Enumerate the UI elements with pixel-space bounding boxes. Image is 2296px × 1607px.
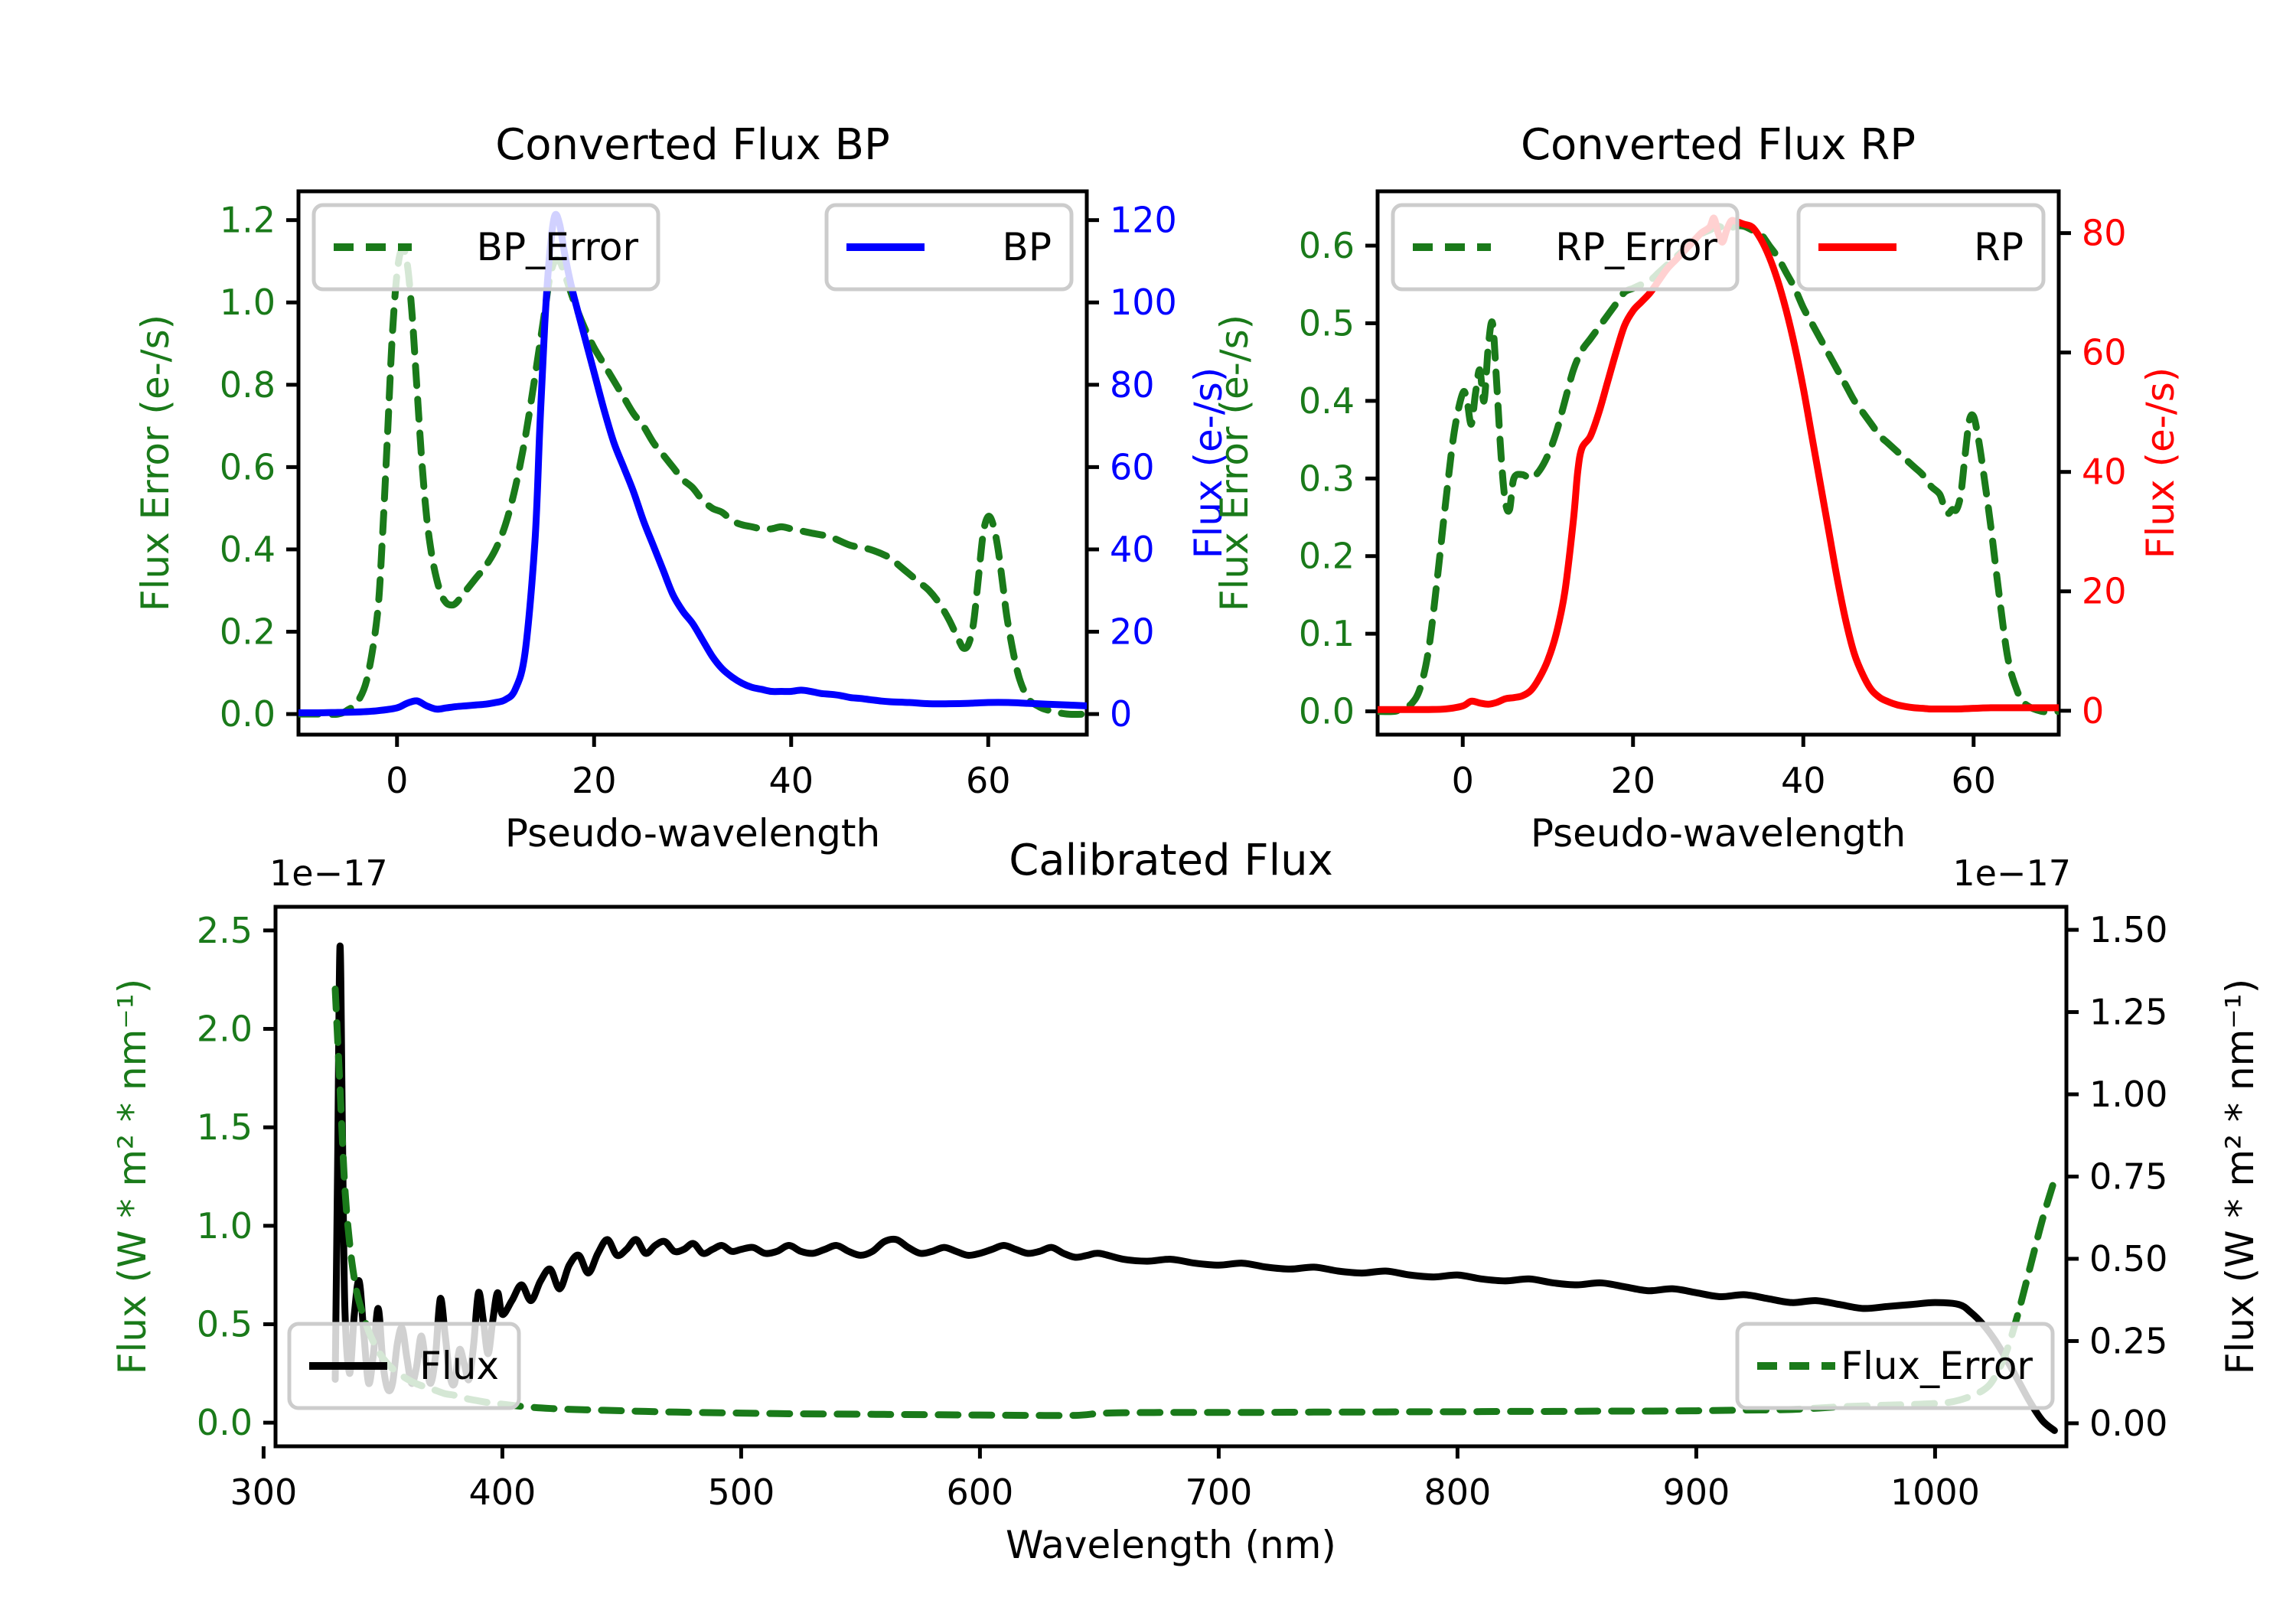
legend-bp_error[interactable]: BP_Error [314,205,658,289]
y-tick-label-right: 20 [1110,611,1155,653]
y-axis-label-left: Flux Error (e-/s) [1212,315,1257,611]
legend-flux_error[interactable]: Flux_Error [1737,1324,2053,1408]
series-line-bp_error [298,249,1087,715]
panel-bp: 0204060Pseudo-wavelength0.00.20.40.60.81… [133,120,1231,856]
x-tick-label: 20 [572,760,617,801]
matplotlib-figure: 0204060Pseudo-wavelength0.00.20.40.60.81… [0,0,2296,1607]
y-tick-label-right: 120 [1110,200,1177,241]
x-tick-label: 1000 [1890,1472,1980,1513]
legend-label: BP_Error [477,225,639,269]
panel-title: Calibrated Flux [1009,836,1333,885]
offset-text-left: 1e−17 [269,852,388,894]
y-tick-label-left: 0.0 [1299,691,1355,732]
y-tick-label-right: 40 [1110,529,1155,570]
series-line-rp_error [1378,226,2059,712]
y-tick-label-right: 0.00 [2089,1403,2167,1444]
y-tick-label-left: 0.2 [220,611,276,653]
y-tick-label-left: 0.5 [1299,302,1355,344]
legend-label: BP [1003,225,1052,269]
data-layer [1378,218,2059,712]
panel-title: Converted Flux BP [495,120,890,170]
y-tick-label-right: 0.75 [2089,1156,2167,1198]
legend-flux[interactable]: Flux [289,1324,519,1408]
y-tick-label-right: 60 [2082,332,2127,373]
x-tick-label: 0 [1452,760,1474,801]
y-tick-label-right: 0 [2082,690,2104,732]
panel-cal: 3004005006007008009001000Wavelength (nm)… [110,836,2262,1567]
y-tick-label-right: 80 [2082,213,2127,254]
x-tick-label: 400 [468,1472,536,1513]
legend-label: Flux [419,1344,499,1388]
y-tick-label-right: 100 [1110,282,1177,323]
y-tick-label-left: 2.0 [197,1009,253,1050]
series-line-rp [1378,218,2059,709]
x-tick-label: 20 [1610,760,1655,801]
y-tick-label-left: 0.0 [220,693,276,735]
x-tick-label: 500 [707,1472,775,1513]
legend-label: RP_Error [1555,225,1717,269]
y-tick-label-left: 1.5 [197,1107,253,1148]
x-tick-label: 40 [1781,760,1826,801]
y-tick-label-left: 0.8 [220,364,276,406]
y-tick-label-left: 2.5 [197,910,253,951]
legend-rp[interactable]: RP [1799,205,2043,289]
x-tick-label: 60 [966,760,1011,801]
x-axis-label: Wavelength (nm) [1006,1523,1336,1567]
x-tick-label: 600 [946,1472,1013,1513]
panel-rp: 0204060Pseudo-wavelength0.00.10.20.30.40… [1212,120,2183,856]
y-tick-label-right: 0.50 [2089,1238,2167,1279]
y-tick-label-right: 20 [2082,571,2127,612]
y-tick-label-right: 0 [1110,693,1132,735]
y-axis-label-right: Flux (e-/s) [2138,367,2183,559]
y-axis-label-right: Flux (W * m² * nm⁻¹) [2218,979,2262,1374]
y-tick-label-right: 1.50 [2089,909,2167,950]
legend-bp[interactable]: BP [827,205,1071,289]
y-tick-label-left: 0.4 [1299,380,1355,422]
y-axis-label-left: Flux Error (e-/s) [133,315,178,611]
x-tick-label: 900 [1662,1472,1730,1513]
y-tick-label-left: 0.5 [197,1303,253,1345]
x-tick-label: 40 [768,760,814,801]
y-tick-label-right: 1.25 [2089,992,2167,1033]
y-tick-label-right: 40 [2082,451,2127,493]
legend-label: RP [1974,225,2024,269]
x-tick-label: 0 [386,760,408,801]
y-tick-label-left: 0.4 [220,529,276,570]
y-tick-label-right: 0.25 [2089,1320,2167,1361]
y-tick-label-left: 0.0 [197,1402,253,1443]
y-tick-label-right: 60 [1110,446,1155,487]
x-tick-label: 700 [1185,1472,1252,1513]
y-tick-label-left: 1.2 [220,200,276,241]
panel-title: Converted Flux RP [1521,120,1916,170]
y-tick-label-left: 0.1 [1299,613,1355,654]
x-axis-label: Pseudo-wavelength [1531,811,1906,856]
y-tick-label-left: 0.6 [1299,225,1355,266]
x-axis-label: Pseudo-wavelength [505,811,880,856]
legend-label: Flux_Error [1841,1344,2033,1388]
y-tick-label-left: 0.3 [1299,458,1355,499]
offset-text-right: 1e−17 [1952,852,2071,894]
y-tick-label-left: 1.0 [197,1205,253,1247]
y-tick-label-right: 80 [1110,364,1155,406]
y-axis-label-left: Flux (W * m² * nm⁻¹) [110,979,155,1374]
x-tick-label: 800 [1424,1472,1491,1513]
y-tick-label-left: 0.6 [220,446,276,487]
y-tick-label-right: 1.00 [2089,1074,2167,1115]
legend-rp_error[interactable]: RP_Error [1393,205,1737,289]
x-tick-label: 60 [1951,760,1996,801]
y-tick-label-left: 1.0 [220,282,276,323]
y-tick-label-left: 0.2 [1299,536,1355,577]
x-tick-label: 300 [230,1472,297,1513]
figure-canvas: 0204060Pseudo-wavelength0.00.20.40.60.81… [0,0,2296,1607]
